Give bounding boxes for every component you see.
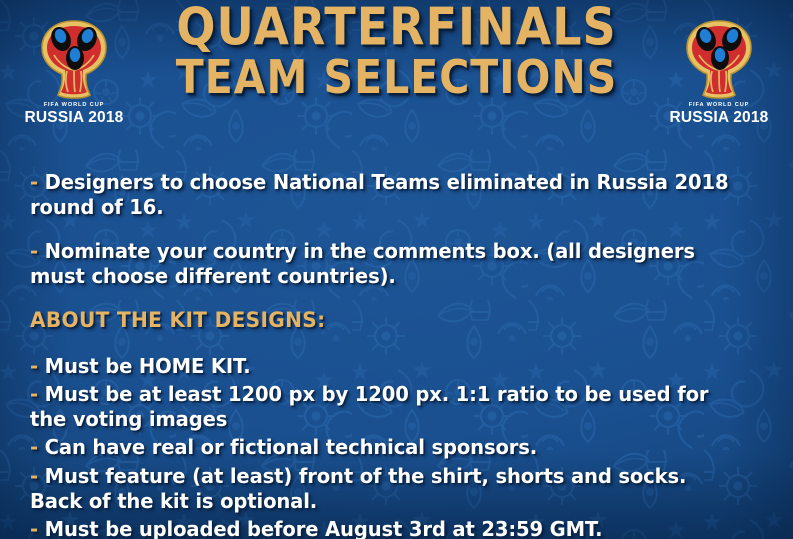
bullet-dash: - — [30, 239, 38, 263]
emblem-right: FIFA WORLD CUP RUSSIA 2018 — [659, 16, 779, 134]
poster-canvas: FIFA WORLD CUP RUSSIA 2018 QUARTERFINALS… — [0, 0, 793, 539]
rule-text: Must feature (at least) front of the shi… — [30, 464, 686, 513]
section-heading: ABOUT THE KIT DESIGNS: — [30, 308, 738, 333]
bullet-dash: - — [30, 464, 38, 488]
fifa-world-cup-trophy-icon — [14, 16, 134, 102]
bullet-dash: - — [30, 382, 38, 406]
bullet-dash: - — [30, 354, 38, 378]
fifa-world-cup-trophy-icon — [659, 16, 779, 102]
rule-item: - Must be HOME KIT. — [30, 354, 734, 379]
bullet-dash: - — [30, 517, 38, 539]
emblem-left-russia-text: RUSSIA 2018 — [14, 109, 134, 126]
emblem-left: FIFA WORLD CUP RUSSIA 2018 — [14, 16, 134, 134]
rule-item: - Must be uploaded before August 3rd at … — [30, 517, 734, 539]
bullet-dash: - — [30, 435, 38, 459]
poster-header: FIFA WORLD CUP RUSSIA 2018 QUARTERFINALS… — [0, 0, 793, 140]
rule-item: - Nominate your country in the comments … — [30, 239, 734, 288]
rule-text: Must be uploaded before August 3rd at 23… — [45, 517, 603, 539]
rule-text: Can have real or fictional technical spo… — [45, 435, 537, 459]
emblem-right-russia-text: RUSSIA 2018 — [659, 109, 779, 126]
rule-text: Designers to choose National Teams elimi… — [30, 170, 728, 219]
rule-text: Must be HOME KIT. — [45, 354, 251, 378]
title-block: QUARTERFINALS TEAM SELECTIONS — [150, 0, 643, 95]
rule-text: Nominate your country in the comments bo… — [30, 239, 695, 288]
rule-item: - Must feature (at least) front of the s… — [30, 464, 734, 513]
page-subtitle: TEAM SELECTIONS — [150, 55, 643, 100]
poster-body: - Designers to choose National Teams eli… — [0, 140, 793, 539]
rule-item: - Designers to choose National Teams eli… — [30, 170, 734, 219]
rule-text: Must be at least 1200 px by 1200 px. 1:1… — [30, 382, 708, 431]
rule-item: - Can have real or fictional technical s… — [30, 435, 734, 460]
page-title: QUARTERFINALS — [150, 2, 643, 52]
rule-item: - Must be at least 1200 px by 1200 px. 1… — [30, 382, 734, 431]
bullet-dash: - — [30, 170, 38, 194]
